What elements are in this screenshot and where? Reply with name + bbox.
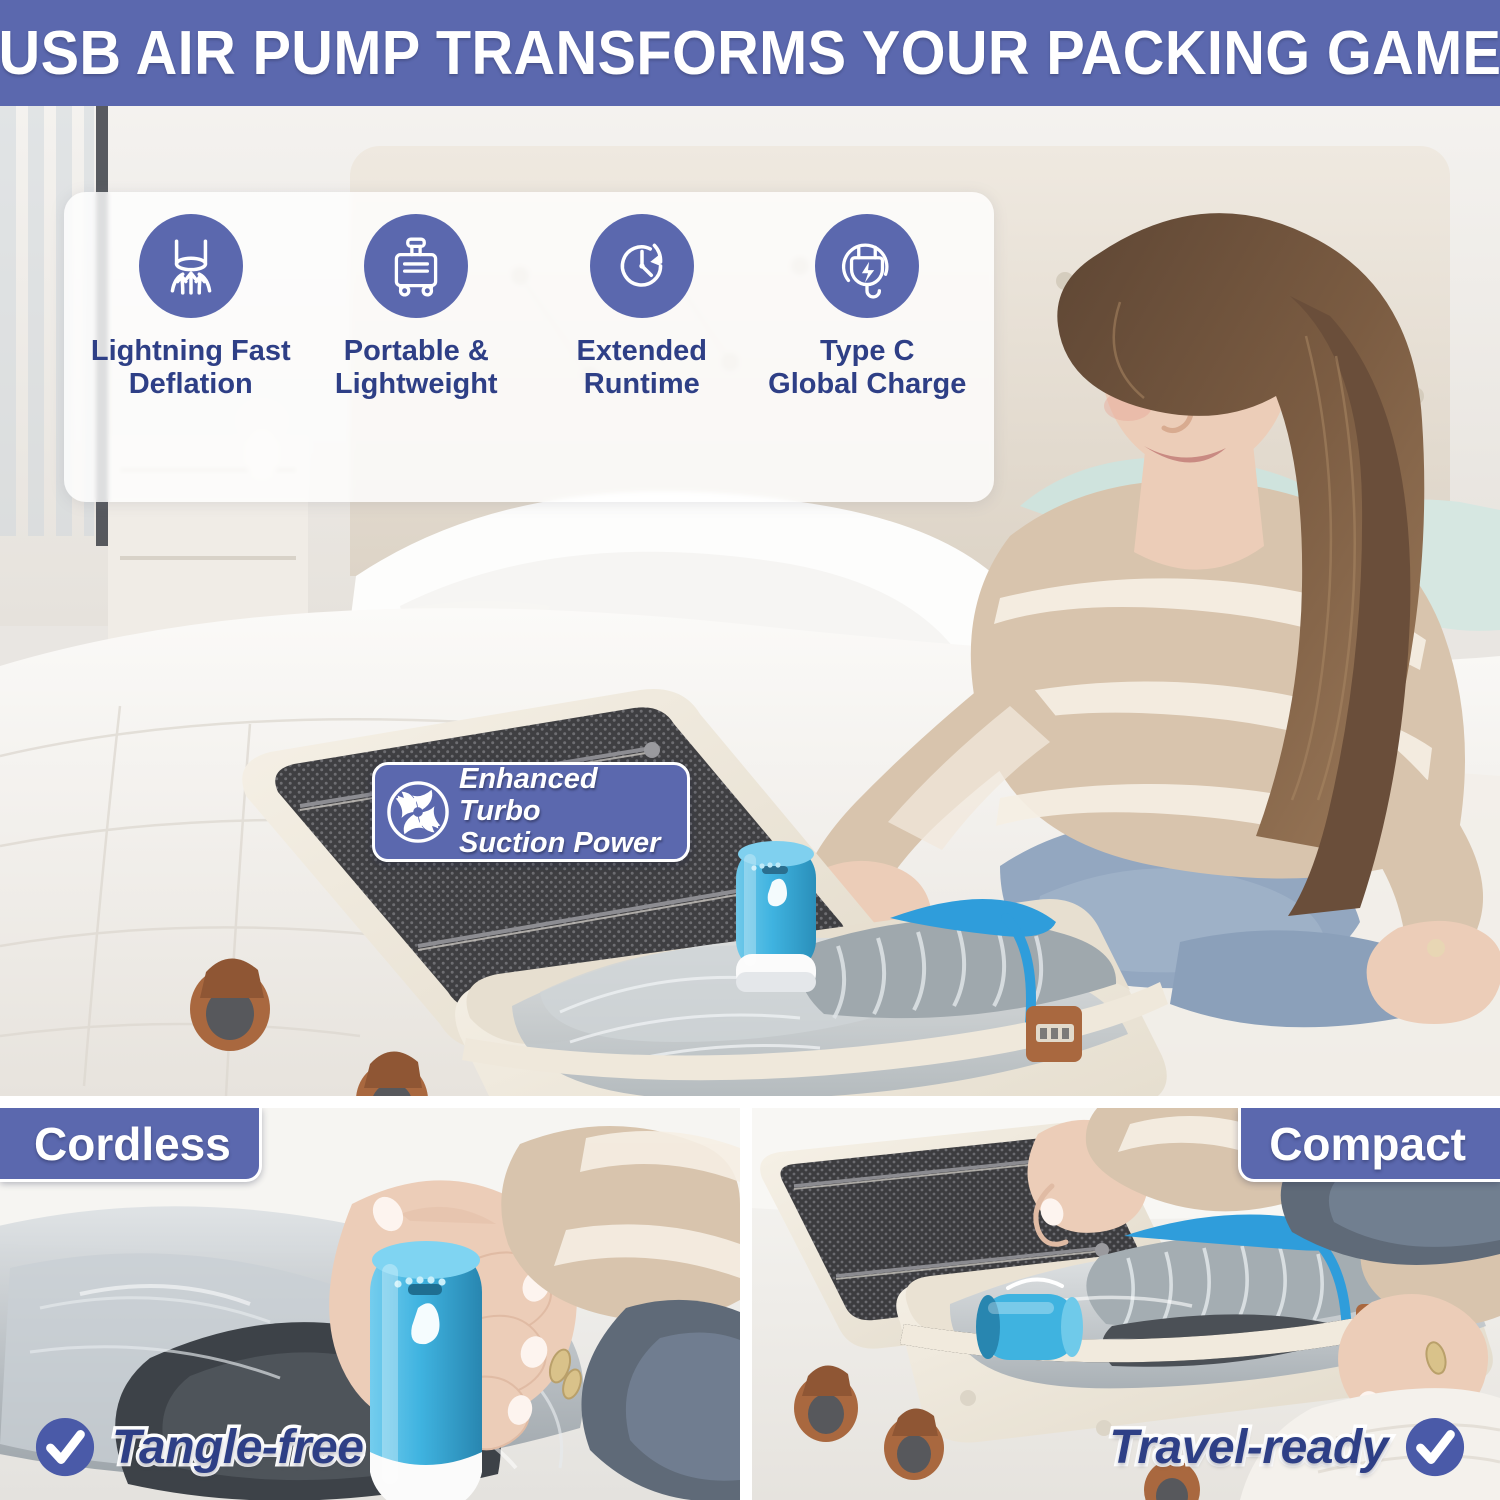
- benefit-travel-ready: Travel-ready: [1109, 1416, 1466, 1478]
- check-circle-icon: [34, 1416, 96, 1478]
- feature-label: Portable & Lightweight: [335, 335, 498, 401]
- feature-item-portable-lightweight: Portable & Lightweight: [305, 214, 527, 401]
- feature-item-lightning-fast-deflation: Lightning Fast Deflation: [80, 214, 302, 401]
- turbo-suction-badge: Enhanced Turbo Suction Power: [372, 762, 690, 862]
- tab-cordless: Cordless: [0, 1108, 262, 1182]
- product-infographic: USB AIR PUMP TRANSFORMS YOUR PACKING GAM…: [0, 0, 1500, 1500]
- feature-label: Type C Global Charge: [768, 335, 966, 401]
- air-pump-device: [736, 841, 816, 992]
- page-title: USB AIR PUMP TRANSFORMS YOUR PACKING GAM…: [0, 18, 1500, 89]
- tab-label: Compact: [1269, 1117, 1466, 1171]
- feature-highlights-panel: Lightning Fast Deflation Portable & Ligh…: [64, 192, 994, 502]
- turbine-swirl-icon: [387, 781, 449, 843]
- feature-label: Lightning Fast Deflation: [91, 335, 291, 401]
- feature-item-type-c-global-charge: Type C Global Charge: [756, 214, 978, 401]
- turbo-badge-label: Enhanced Turbo Suction Power: [459, 764, 673, 860]
- bottom-panels: Cordless Tangle-free: [0, 1108, 1500, 1500]
- panel-cordless: Cordless Tangle-free: [0, 1108, 740, 1500]
- suitcase-icon: [364, 214, 468, 318]
- feature-item-extended-runtime: Extended Runtime: [531, 214, 753, 401]
- benefit-tangle-free: Tangle-free: [34, 1416, 363, 1478]
- air-pump-device: [370, 1241, 482, 1500]
- deflation-suction-icon: [139, 214, 243, 318]
- clock-arrow-icon: [590, 214, 694, 318]
- hero-photo: Lightning Fast Deflation Portable & Ligh…: [0, 106, 1500, 1096]
- tab-label: Cordless: [34, 1117, 231, 1171]
- power-plug-icon: [815, 214, 919, 318]
- benefit-label: Tangle-free: [112, 1420, 363, 1475]
- tab-compact: Compact: [1238, 1108, 1500, 1182]
- feature-label: Extended Runtime: [576, 335, 707, 401]
- header-banner: USB AIR PUMP TRANSFORMS YOUR PACKING GAM…: [0, 0, 1500, 106]
- check-circle-icon: [1404, 1416, 1466, 1478]
- panel-compact: Compact Travel-ready: [752, 1108, 1500, 1500]
- benefit-label: Travel-ready: [1109, 1420, 1388, 1475]
